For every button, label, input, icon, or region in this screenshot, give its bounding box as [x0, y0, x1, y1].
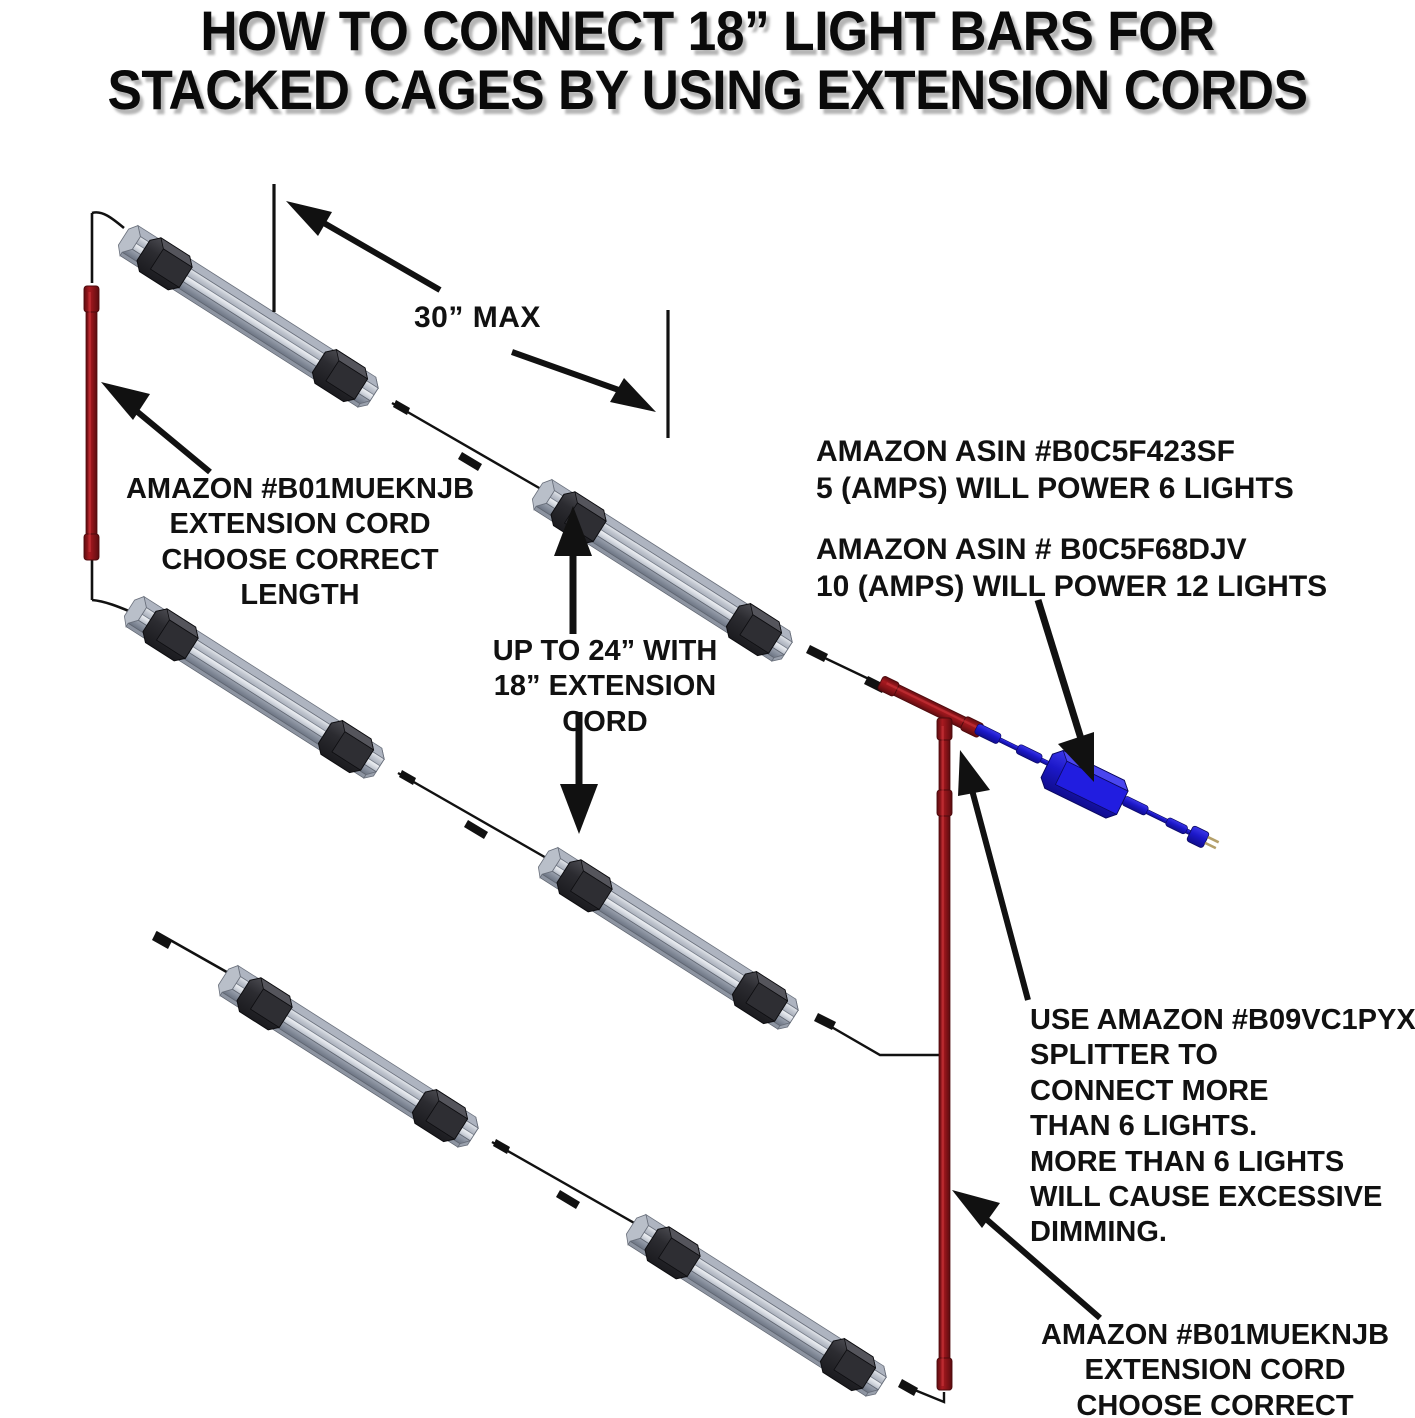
- dimension-arrow-left: [286, 201, 440, 290]
- cable-row3-left: [152, 932, 232, 975]
- light-bar-3: [118, 592, 389, 785]
- extension-cord-right: [937, 718, 952, 1390]
- left-cord-line-1: AMAZON #B01MUEKNJB: [110, 472, 490, 507]
- asin-10amp-line-1: AMAZON ASIN # B0C5F68DJV: [816, 532, 1327, 569]
- splitter-line-3: CONNECT MORE: [1030, 1074, 1415, 1109]
- dimension-arrow-right: [512, 352, 656, 412]
- bottom-cord-line-1: AMAZON #B01MUEKNJB: [1020, 1318, 1410, 1353]
- splitter-line-7: DIMMING.: [1030, 1215, 1415, 1250]
- light-bar-6: [620, 1210, 891, 1403]
- cable-row1-out: [806, 645, 892, 693]
- splitter-line-2: SPLITTER TO: [1030, 1038, 1415, 1073]
- splitter-line-4: THAN 6 LIGHTS.: [1030, 1109, 1415, 1144]
- cable-row1-left: [92, 212, 124, 283]
- cable-row3-link: [492, 1139, 650, 1232]
- left-cord-line-3: CHOOSE CORRECT LENGTH: [110, 543, 490, 614]
- light-bar-row-3: [152, 932, 944, 1402]
- splitter-line-6: WILL CAUSE EXCESSIVE: [1030, 1180, 1415, 1215]
- annotation-splitter: USE AMAZON #B09VC1PYXQ SPLITTER TO CONNE…: [1030, 1003, 1415, 1251]
- diagram-page: HOW TO CONNECT 18” LIGHT BARS FOR STACKE…: [0, 0, 1415, 1418]
- ext24-line-1: UP TO 24” WITH: [460, 634, 750, 669]
- asin-5amp-line-2: 5 (AMPS) WILL POWER 6 LIGHTS: [816, 471, 1294, 508]
- asin-10amp-line-2: 10 (AMPS) WILL POWER 12 LIGHTS: [816, 569, 1327, 606]
- annotation-left-extension-cord: AMAZON #B01MUEKNJB EXTENSION CORD CHOOSE…: [110, 472, 490, 614]
- leader-arrow-splitter: [958, 750, 1028, 1000]
- cable-row3-out: [898, 1379, 944, 1402]
- ext24-line-2: 18” EXTENSION CORD: [460, 669, 750, 740]
- asin-5amp-line-1: AMAZON ASIN #B0C5F423SF: [816, 434, 1294, 471]
- splitter-line-5: MORE THAN 6 LIGHTS: [1030, 1145, 1415, 1180]
- title-line-1: HOW TO CONNECT 18” LIGHT BARS FOR: [57, 2, 1359, 61]
- splitter-line-1: USE AMAZON #B09VC1PYXQ: [1030, 1003, 1415, 1038]
- leader-arrow-left-cord: [101, 382, 210, 472]
- light-bar-row-1: [92, 212, 892, 693]
- extension-cord-left: [84, 286, 99, 560]
- dimension-label-30-max: 30” MAX: [414, 300, 541, 337]
- dimension-label-30-max-text: 30” MAX: [414, 300, 541, 337]
- cable-row2-out: [814, 1013, 945, 1055]
- bottom-cord-line-3: CHOOSE CORRECT LENGTH: [1020, 1389, 1410, 1418]
- left-cord-line-2: EXTENSION CORD: [110, 507, 490, 542]
- annotation-extension-24: UP TO 24” WITH 18” EXTENSION CORD: [460, 634, 750, 740]
- leader-arrow-ext24-up: [554, 506, 592, 634]
- annotation-bottom-extension-cord: AMAZON #B01MUEKNJB EXTENSION CORD CHOOSE…: [1020, 1318, 1410, 1418]
- title-line-2: STACKED CAGES BY USING EXTENSION CORDS: [57, 61, 1359, 120]
- splitter-assembly: [877, 676, 1225, 868]
- page-title: HOW TO CONNECT 18” LIGHT BARS FOR STACKE…: [0, 2, 1415, 120]
- annotation-power-supply-5amp: AMAZON ASIN #B0C5F423SF 5 (AMPS) WILL PO…: [816, 434, 1294, 507]
- power-supply: [966, 712, 1225, 867]
- light-bar-4: [532, 843, 803, 1036]
- light-bar-1: [112, 221, 383, 414]
- leader-arrow-power-supply: [1038, 600, 1094, 782]
- cable-row2-link: [398, 770, 562, 867]
- annotation-power-supply-10amp: AMAZON ASIN # B0C5F68DJV 10 (AMPS) WILL …: [816, 532, 1327, 605]
- bottom-cord-line-2: EXTENSION CORD: [1020, 1353, 1410, 1388]
- light-bar-5: [212, 961, 483, 1154]
